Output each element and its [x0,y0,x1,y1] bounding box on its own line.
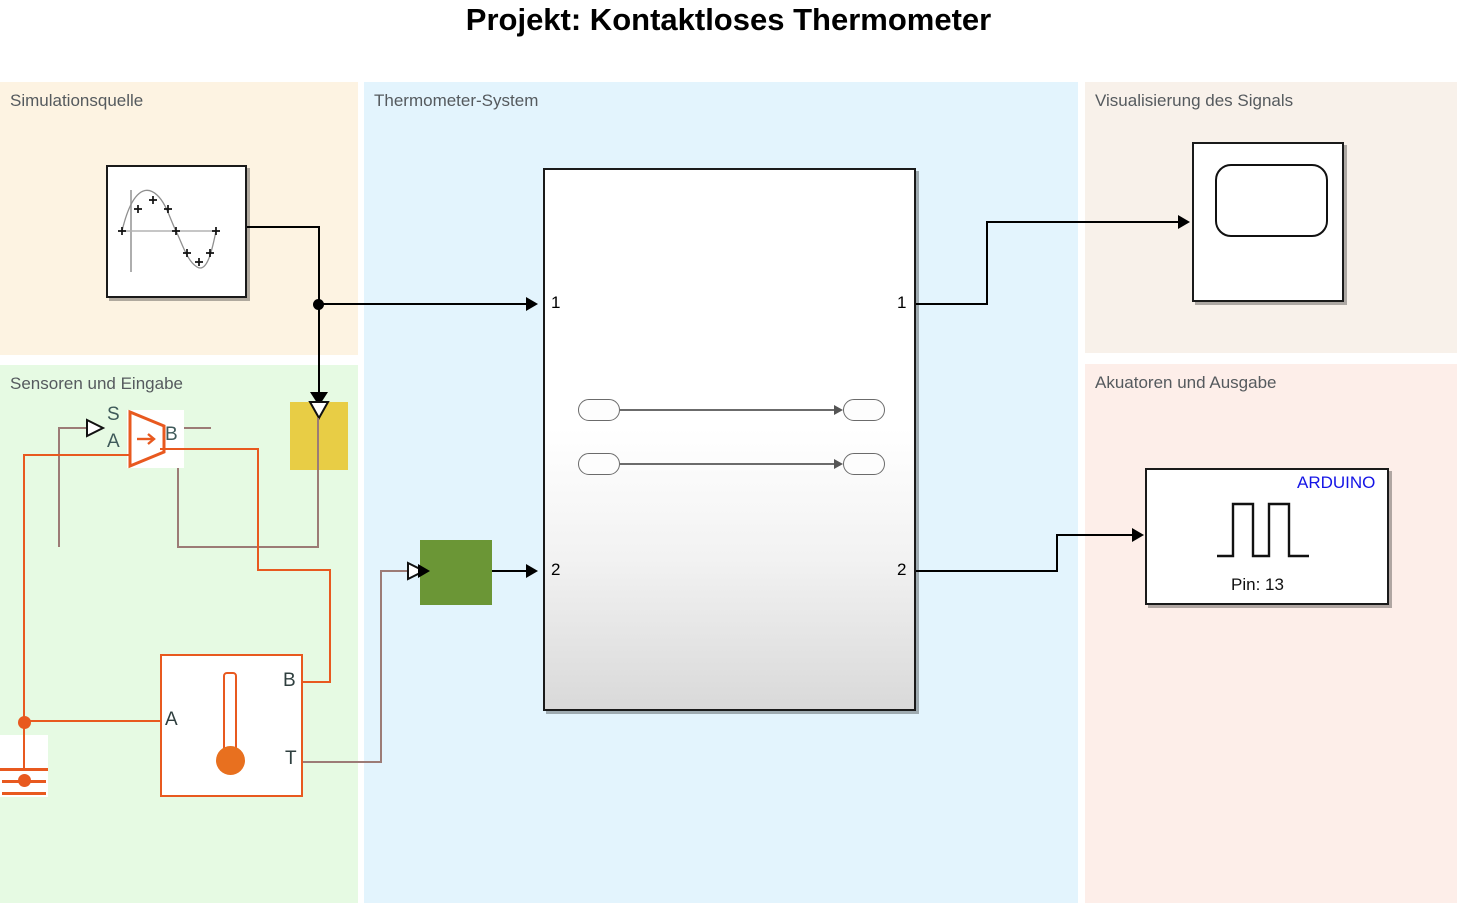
physical-wire-converter-left [177,546,319,548]
thermometer-port-label-a: A [165,709,178,731]
wire-switch-b-right [257,569,331,571]
ps-port-triangle-icon [308,400,330,420]
pwm-pulse-icon [1215,498,1312,560]
subsystem-outport-pill-2 [843,453,885,475]
subsystem-inport-pill-1 [578,399,620,421]
subsystem-inner-arrowhead-1 [834,405,843,415]
switch-port-label-a: A [107,431,120,453]
ground-line-3 [2,792,46,795]
panel-label-simulationsquelle: Simulationsquelle [10,91,143,111]
wire-junction-to-subsystem-in1 [318,303,526,305]
subsystem-inport-pill-2 [578,453,620,475]
wire-sine-to-junction [247,226,320,228]
panel-label-visualisierung: Visualisierung des Signals [1095,91,1293,111]
wire-subsystem-out1-a [916,303,988,305]
wire-switch-b-out [160,448,259,450]
physical-wire-converter-down [317,418,319,548]
sine-wave-icon [108,167,245,296]
subsystem-inner-wire-2 [620,463,836,465]
subsystem-inner-wire-1 [620,409,836,411]
panel-label-sensoren: Sensoren und Eingabe [10,374,183,394]
simscape-switch-block[interactable] [126,406,188,472]
switch-port-label-b: B [165,424,178,446]
thermometer-port-label-t: T [285,748,297,770]
physical-wire-switch-s-riser [58,427,60,547]
panel-label-thermometer-system: Thermometer-System [374,91,538,111]
wire-junction-vertical [318,226,320,306]
switch-port-label-s: S [107,404,120,426]
wire-switch-b-to-thermometer [329,569,331,683]
thermometer-port-label-b: B [283,670,296,692]
ground-line-1 [0,768,48,771]
physical-wire-switch-s-stub [58,427,86,429]
wire-switch-a-in [23,454,130,456]
ground-center-dot [18,774,31,787]
subsystem-inner-arrowhead-2 [834,459,843,469]
wire-subsystem-out2-a [916,570,1058,572]
wire-subsystem-out1-to-scope [986,221,1178,223]
wire-switch-b-down [257,448,259,571]
arrowhead-converter-in [418,564,430,578]
arduino-pin-label: Pin: 13 [1231,575,1284,595]
arrowhead-subsystem-in1 [526,297,538,311]
wire-subsystem-out2-riser [1056,534,1058,572]
subsystem-inport-label-2: 2 [551,560,560,580]
sine-wave-source-block[interactable] [106,165,247,298]
ground-stem [23,720,25,769]
wire-subsystem-out2-to-arduino [1056,534,1132,536]
thermometer-icon [223,672,237,755]
wire-subsystem-out1-riser [986,221,988,305]
subsystem-outport-label-1: 1 [897,293,906,313]
page-title: Projekt: Kontaktloses Thermometer [0,2,1457,38]
wire-ground-to-thermometer-a [23,720,162,722]
arrowhead-subsystem-in2 [526,564,538,578]
panel-label-akuatoren: Akuatoren und Ausgabe [1095,373,1276,393]
scope-icon [1215,164,1328,237]
panel-akuatoren: Akuatoren und Ausgabe [1085,364,1457,903]
subsystem-inport-label-1: 1 [551,293,560,313]
ps-simulink-converter-block[interactable] [420,540,492,605]
subsystem-outport-label-2: 2 [897,560,906,580]
wire-left-bus-vertical [23,454,25,720]
thermometer-bulb-icon [216,746,245,775]
switch-s-port-triangle-icon [84,418,106,438]
diagram-canvas: Projekt: Kontaktloses Thermometer Simula… [0,0,1457,917]
arduino-brand-label: ARDUINO [1297,473,1375,493]
arrowhead-scope-in [1178,215,1190,229]
subsystem-outport-pill-1 [843,399,885,421]
physical-wire-t-riser [380,570,382,763]
wire-junction-down-to-converter [318,303,320,396]
physical-wire-thermometer-t-out [303,761,382,763]
thermometer-subsystem-block[interactable] [543,168,916,711]
arrowhead-arduino-in [1132,528,1144,542]
wire-thermometer-b-in [300,681,331,683]
